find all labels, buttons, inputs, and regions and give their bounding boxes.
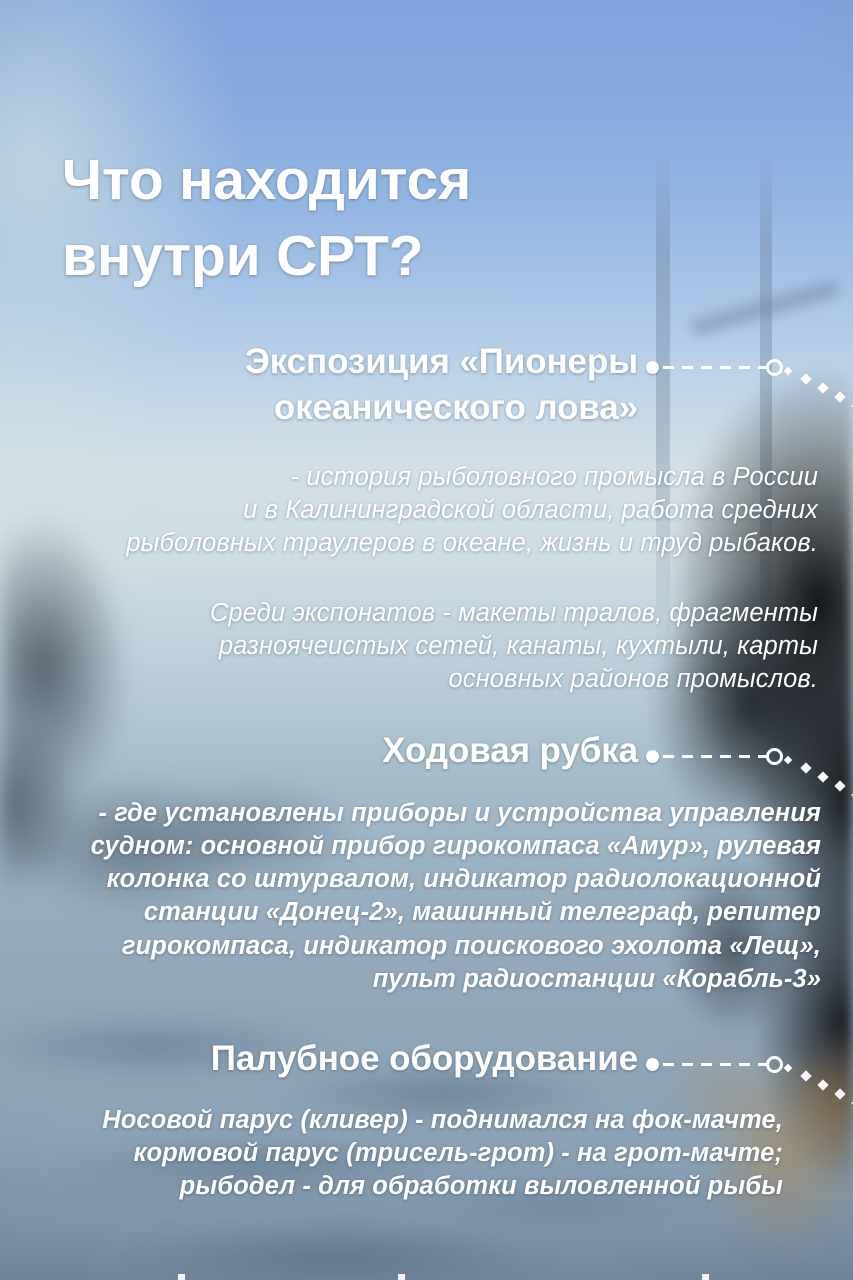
connector-dash-line [663, 755, 768, 758]
section-deck-equipment: Палубное оборудование [0, 1036, 853, 1082]
connector-ring-icon [766, 748, 783, 765]
section-exposition: Экспозиция «Пионеры океанического лова» [0, 339, 853, 430]
edge-dash-icon [398, 1274, 405, 1280]
paragraph-exposition-2: Среди экспонатов - макеты тралов, фрагме… [0, 597, 853, 696]
section-heading-wheelhouse: Ходовая рубка [0, 728, 853, 774]
edge-dash-icon [178, 1274, 185, 1280]
connector-ring-icon [766, 359, 783, 376]
section-heading-exposition: Экспозиция «Пионеры океанического лова» [0, 339, 853, 430]
connector-dot-icon [646, 1058, 659, 1071]
page-title: Что находится внутри СРТ? [62, 143, 702, 295]
connector-dash-line [663, 1063, 768, 1066]
poster-root: Что находится внутри СРТ? Экспозиция «Пи… [0, 0, 853, 1280]
section-exposition-body-2: Среди экспонатов - макеты тралов, фрагме… [0, 597, 853, 696]
poster-content: Что находится внутри СРТ? Экспозиция «Пи… [0, 0, 853, 1280]
section-wheelhouse: Ходовая рубка [0, 728, 853, 774]
section-deck-equipment-body: Носовой парус (кливер) - поднимался на ф… [0, 1104, 853, 1203]
section-wheelhouse-body: - где установлены приборы и устройства у… [0, 797, 853, 996]
connector-dash-line [663, 366, 768, 369]
section-exposition-body-1: - история рыболовного промысла в России … [0, 461, 853, 560]
edge-dash-icon [702, 1274, 709, 1280]
section-heading-deck-equipment: Палубное оборудование [0, 1036, 853, 1082]
connector-dot-icon [646, 361, 659, 374]
paragraph-wheelhouse-1: - где установлены приборы и устройства у… [0, 797, 853, 996]
connector-dot-icon [646, 750, 659, 763]
paragraph-deck-equipment-1: Носовой парус (кливер) - поднимался на ф… [0, 1104, 853, 1203]
connector-ring-icon [766, 1056, 783, 1073]
paragraph-exposition-1: - история рыболовного промысла в России … [0, 461, 853, 560]
